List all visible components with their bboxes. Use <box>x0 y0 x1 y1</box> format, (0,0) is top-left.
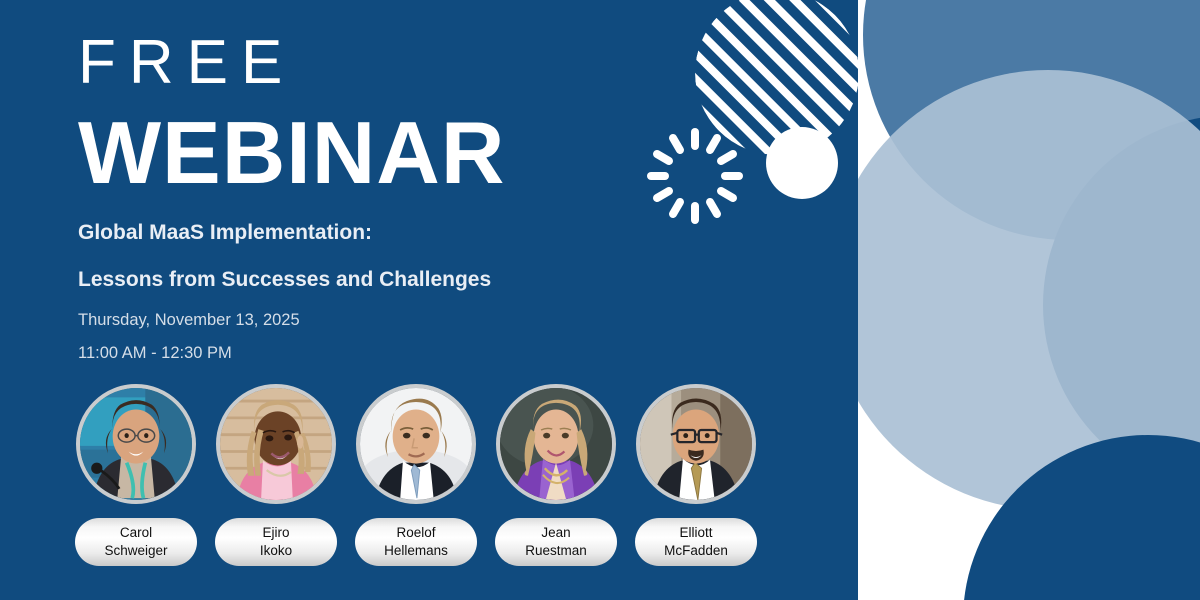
speakers-row: Carol Schweiger <box>76 384 756 566</box>
nameplate: Carol Schweiger <box>75 518 197 566</box>
event-time: 11:00 AM - 12:30 PM <box>78 345 718 362</box>
speaker-card: Jean Ruestman <box>496 384 616 566</box>
speaker-card: Ejiro Ikoko <box>216 384 336 566</box>
speaker-last-name: Ruestman <box>525 542 587 560</box>
subtitle-line-2: Lessons from Successes and Challenges <box>78 269 718 290</box>
speaker-card: Carol Schweiger <box>76 384 196 566</box>
speaker-last-name: McFadden <box>664 542 728 560</box>
solid-white-circle-icon <box>766 127 838 199</box>
nameplate: Roelof Hellemans <box>355 518 477 566</box>
subtitle-line-1: Global MaaS Implementation: <box>78 222 718 243</box>
headline-block: FREE WEBINAR <box>78 30 698 197</box>
nameplate: Ejiro Ikoko <box>215 518 337 566</box>
right-decorative-panel <box>858 0 1200 600</box>
event-date: Thursday, November 13, 2025 <box>78 312 718 329</box>
nameplate: Jean Ruestman <box>495 518 617 566</box>
portrait-jean-ruestman <box>496 384 616 504</box>
right-circles-group <box>858 0 1200 600</box>
portrait-ejiro-ikoko <box>216 384 336 504</box>
nameplate: Elliott McFadden <box>635 518 757 566</box>
portrait-elliott-mcfadden <box>636 384 756 504</box>
subtitle-block: Global MaaS Implementation: Lessons from… <box>78 222 718 377</box>
speaker-first-name: Elliott <box>679 524 712 542</box>
speaker-card: Roelof Hellemans <box>356 384 476 566</box>
left-content-panel: FREE WEBINAR Global MaaS Implementation:… <box>0 0 858 600</box>
speaker-last-name: Schweiger <box>104 542 167 560</box>
webinar-poster: FREE WEBINAR Global MaaS Implementation:… <box>0 0 1200 600</box>
speaker-card: Elliott McFadden <box>636 384 756 566</box>
speaker-first-name: Roelof <box>396 524 435 542</box>
speaker-first-name: Ejiro <box>262 524 289 542</box>
speaker-last-name: Ikoko <box>260 542 292 560</box>
speaker-last-name: Hellemans <box>384 542 448 560</box>
speaker-first-name: Carol <box>120 524 152 542</box>
page-title-webinar: WEBINAR <box>78 109 698 197</box>
kicker-free: FREE <box>78 30 698 95</box>
speaker-first-name: Jean <box>541 524 570 542</box>
striped-circle-icon <box>695 0 858 155</box>
portrait-roelof-hellemans <box>356 384 476 504</box>
portrait-carol-schweiger <box>76 384 196 504</box>
